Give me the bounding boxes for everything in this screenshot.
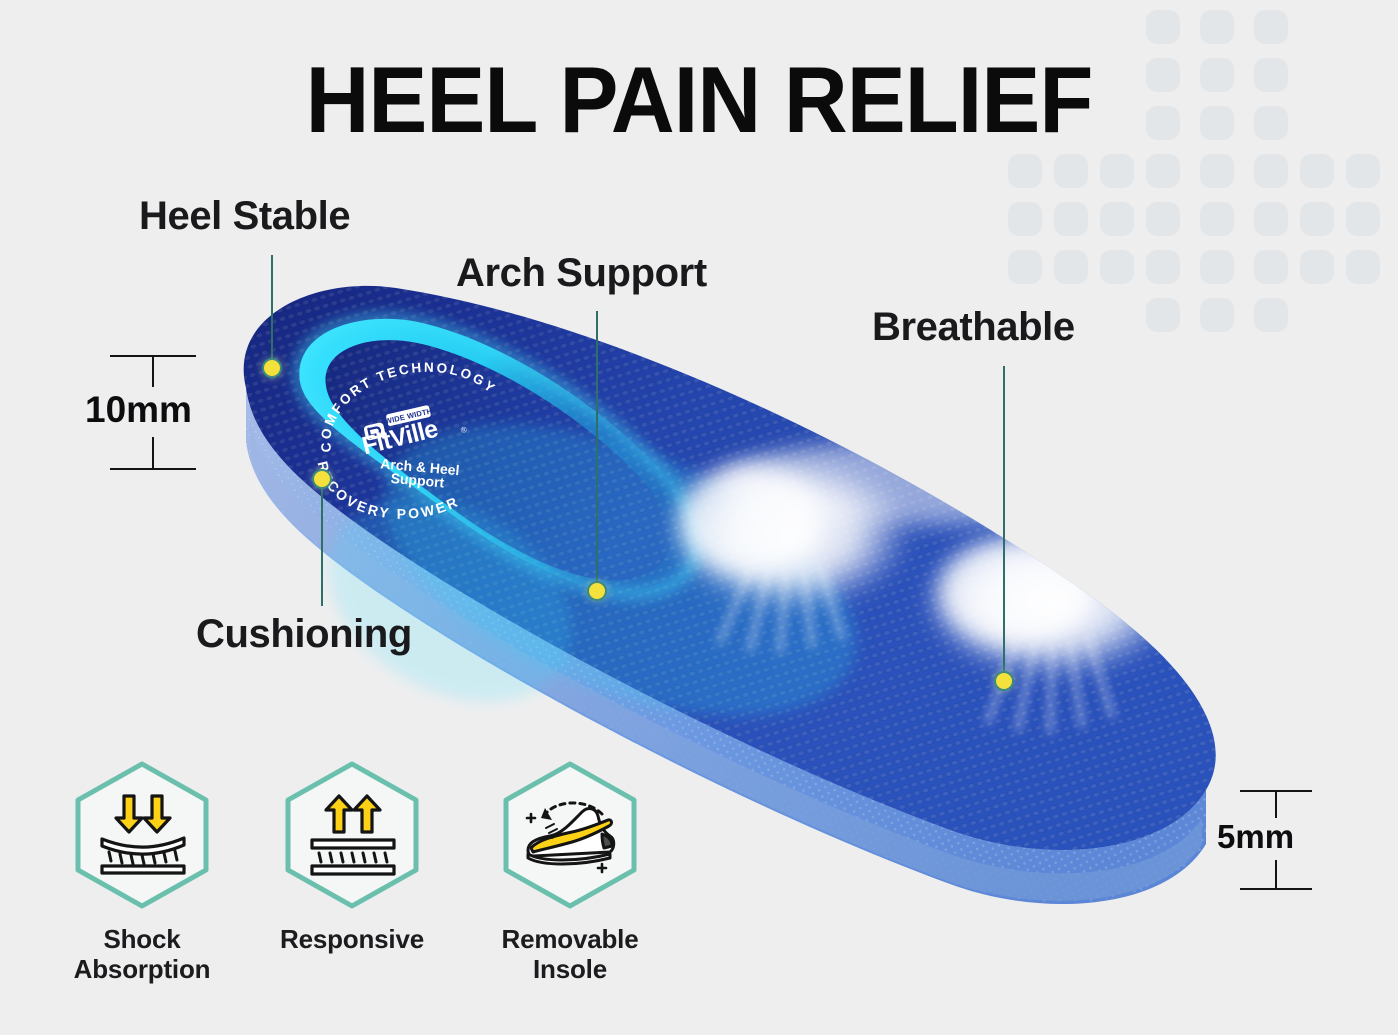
background-dot: [1100, 202, 1134, 236]
feature-label-line1: Shock: [103, 924, 180, 954]
infographic-canvas: HEEL PAIN RELIEF: [0, 0, 1398, 1035]
background-dot: [1254, 154, 1288, 188]
shoe-insole-removal-icon: [520, 792, 620, 878]
callout-label-arch-support: Arch Support: [456, 251, 707, 296]
ruler-stem-upper: [152, 357, 154, 387]
background-dot: [1346, 202, 1380, 236]
up-arrows-cushion-icon: [302, 792, 402, 878]
leader-dot-arch-support[interactable]: [587, 581, 607, 601]
feature-responsive[interactable]: Responsive: [272, 760, 432, 954]
background-dot: [1254, 202, 1288, 236]
background-dot: [1008, 154, 1042, 188]
feature-label-shock-absorption: Shock Absorption: [62, 924, 222, 984]
leader-dot-cushioning[interactable]: [312, 469, 332, 489]
callout-label-breathable: Breathable: [872, 305, 1075, 350]
hexagon-badge-removable-insole: [494, 760, 646, 910]
ruler-stem-upper: [1275, 792, 1277, 818]
leader-dot-heel-stable[interactable]: [262, 358, 282, 378]
ruler-cap-bottom: [110, 468, 196, 470]
background-dot: [1100, 154, 1134, 188]
feature-removable-insole[interactable]: Removable Insole: [490, 760, 650, 984]
leader-line-heel-stable: [271, 255, 273, 363]
ruler-cap-bottom: [1240, 888, 1312, 890]
background-dot: [1300, 154, 1334, 188]
measurement-forefoot-thickness: 5mm: [1240, 790, 1312, 890]
background-dot: [1200, 202, 1234, 236]
background-dot: [1054, 202, 1088, 236]
feature-shock-absorption[interactable]: Shock Absorption: [62, 760, 222, 984]
background-dot: [1146, 202, 1180, 236]
hexagon-badge-responsive: [276, 760, 428, 910]
feature-label-line1: Removable: [502, 924, 639, 954]
feature-label-removable-insole: Removable Insole: [490, 924, 650, 984]
page-title: HEEL PAIN RELIEF: [42, 52, 1356, 148]
background-dot: [1300, 250, 1334, 284]
background-dot: [1200, 154, 1234, 188]
background-dot: [1346, 154, 1380, 188]
feature-label-line1: Responsive: [280, 924, 424, 954]
background-dot: [1008, 202, 1042, 236]
background-dot: [1346, 250, 1380, 284]
background-dot: [1254, 10, 1288, 44]
background-dot: [1054, 154, 1088, 188]
leader-line-breathable: [1003, 366, 1005, 676]
feature-label-responsive: Responsive: [272, 924, 432, 954]
down-arrows-cushion-icon: [92, 792, 192, 878]
feature-label-line2: Absorption: [74, 954, 211, 984]
callout-label-heel-stable: Heel Stable: [139, 194, 350, 239]
callout-label-cushioning: Cushioning: [196, 612, 412, 657]
leader-line-arch-support: [596, 311, 598, 586]
leader-line-cushioning: [321, 486, 323, 606]
leader-dot-breathable[interactable]: [994, 671, 1014, 691]
measurement-heel-thickness: 10mm: [110, 355, 196, 470]
measurement-value-10mm: 10mm: [85, 389, 192, 431]
measurement-value-5mm: 5mm: [1217, 818, 1294, 856]
background-dot: [1146, 154, 1180, 188]
background-dot: [1200, 10, 1234, 44]
background-dot: [1146, 10, 1180, 44]
ruler-stem-lower: [152, 437, 154, 468]
background-dot: [1300, 202, 1334, 236]
feature-label-line2: Insole: [533, 954, 607, 984]
hexagon-badge-shock-absorption: [66, 760, 218, 910]
ruler-stem-lower: [1275, 860, 1277, 888]
